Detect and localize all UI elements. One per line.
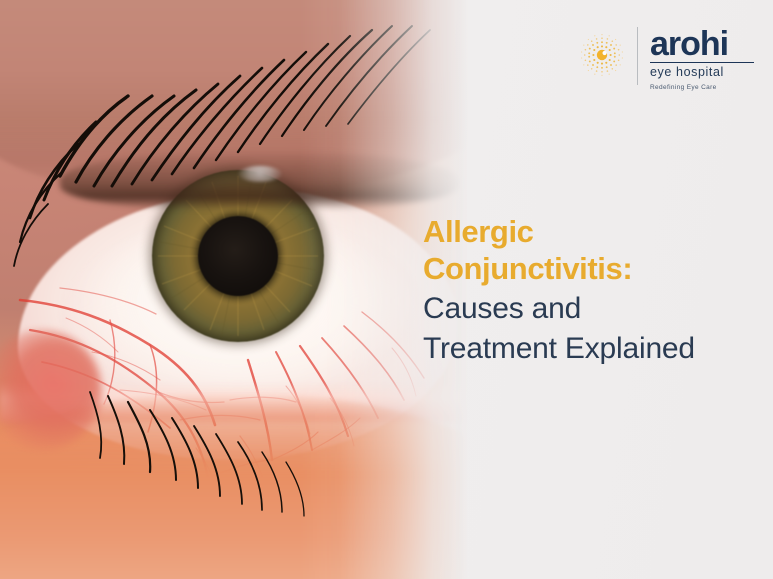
headline-block: Allergic Conjunctivitis: Causes and Trea… (423, 213, 753, 367)
eyelashes (0, 0, 470, 579)
brand-tagline: Redefining Eye Care (650, 83, 754, 92)
arohi-logo[interactable]: arohi eye hospital Redefining Eye Care (578, 27, 750, 89)
logo-wordmark: arohi eye hospital Redefining Eye Care (650, 27, 754, 92)
sunburst-mandala-icon (578, 31, 626, 79)
headline-accent-line-1: Allergic (423, 213, 753, 250)
brand-subtitle: eye hospital (650, 65, 754, 79)
brand-name: arohi (650, 27, 754, 61)
headline-main-line-1: Causes and (423, 290, 753, 327)
blog-banner: arohi eye hospital Redefining Eye Care A… (0, 0, 773, 579)
eye-photograph (0, 0, 470, 579)
headline-accent-line-2: Conjunctivitis: (423, 250, 753, 287)
logo-divider (637, 27, 638, 85)
headline-main-line-2: Treatment Explained (423, 330, 753, 367)
